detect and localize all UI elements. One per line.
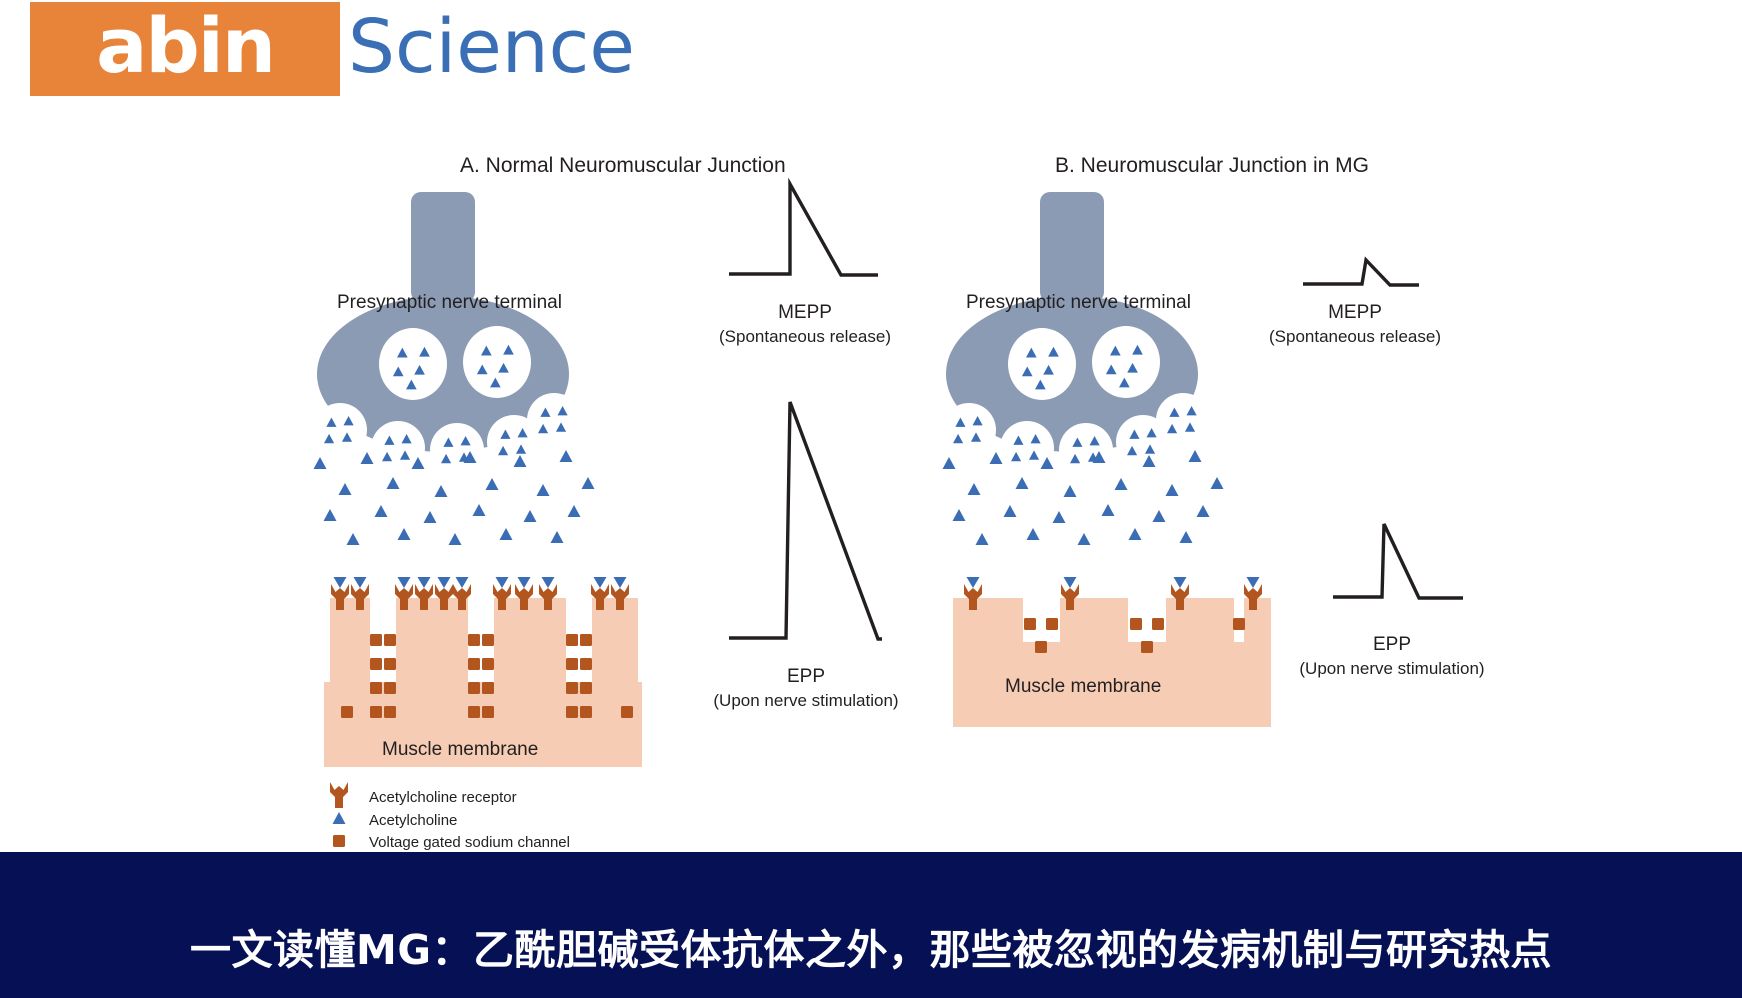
logo-mark-text: abin xyxy=(96,8,274,90)
legend-label-achr: Acetylcholine receptor xyxy=(369,789,517,806)
mepp-sub-a: (Spontaneous release) xyxy=(719,327,891,346)
legend-item-ach: Acetylcholine xyxy=(333,812,458,829)
axon-stalk-b xyxy=(1040,192,1104,302)
panel-a-traces: MEPP (Spontaneous release) EPP (Upon ner… xyxy=(713,184,898,710)
panel-a-title: A. Normal Neuromuscular Junction xyxy=(460,154,786,177)
legend-label-ach: Acetylcholine xyxy=(369,812,457,829)
logo-wordmark: Science xyxy=(348,4,635,90)
panel-a: A. Normal Neuromuscular Junction Presyna… xyxy=(313,154,786,767)
achr-cluster-a xyxy=(331,577,629,610)
muscle-membrane-b xyxy=(953,598,1271,727)
epp-trace-a xyxy=(729,402,882,639)
brand-header: abin Science xyxy=(0,0,1742,110)
axon-stalk-a xyxy=(411,192,475,302)
mepp-label-a: MEPP xyxy=(778,302,832,323)
epp-label-a: EPP xyxy=(787,666,825,687)
panel-b-title: B. Neuromuscular Junction in MG xyxy=(1055,154,1369,177)
panel-b: B. Neuromuscular Junction in MG Presynap… xyxy=(942,154,1369,727)
nmj-figure: A. Normal Neuromuscular Junction Presyna… xyxy=(0,112,1742,852)
mepp-sub-b: (Spontaneous release) xyxy=(1269,327,1441,346)
panel-b-traces: MEPP (Spontaneous release) EPP (Upon ner… xyxy=(1269,260,1485,678)
figure-legend: Acetylcholine receptor Acetylcholine Vol… xyxy=(330,782,570,851)
legend-item-nav: Voltage gated sodium channel xyxy=(333,834,570,851)
bottom-banner: 一文读懂MG：乙酰胆碱受体抗体之外，那些被忽视的发病机制与研究热点 xyxy=(0,852,1742,998)
mepp-label-b: MEPP xyxy=(1328,302,1382,323)
legend-label-nav: Voltage gated sodium channel xyxy=(369,834,570,851)
banner-title: 一文读懂MG：乙酰胆碱受体抗体之外，那些被忽视的发病机制与研究热点 xyxy=(190,916,1552,976)
panel-a-terminal-label: Presynaptic nerve terminal xyxy=(337,292,562,313)
panel-b-membrane-label: Muscle membrane xyxy=(1005,676,1161,697)
mepp-trace-a xyxy=(729,184,878,275)
epp-sub-b: (Upon nerve stimulation) xyxy=(1299,659,1484,678)
epp-sub-a: (Upon nerve stimulation) xyxy=(713,691,898,710)
logo-mark: abin xyxy=(30,2,340,96)
mepp-trace-b xyxy=(1303,260,1419,285)
panel-b-terminal-label: Presynaptic nerve terminal xyxy=(966,292,1191,313)
epp-label-b: EPP xyxy=(1373,634,1411,655)
epp-trace-b xyxy=(1333,524,1463,598)
legend-item-achr: Acetylcholine receptor xyxy=(330,782,517,808)
panel-a-membrane-label: Muscle membrane xyxy=(382,739,538,760)
